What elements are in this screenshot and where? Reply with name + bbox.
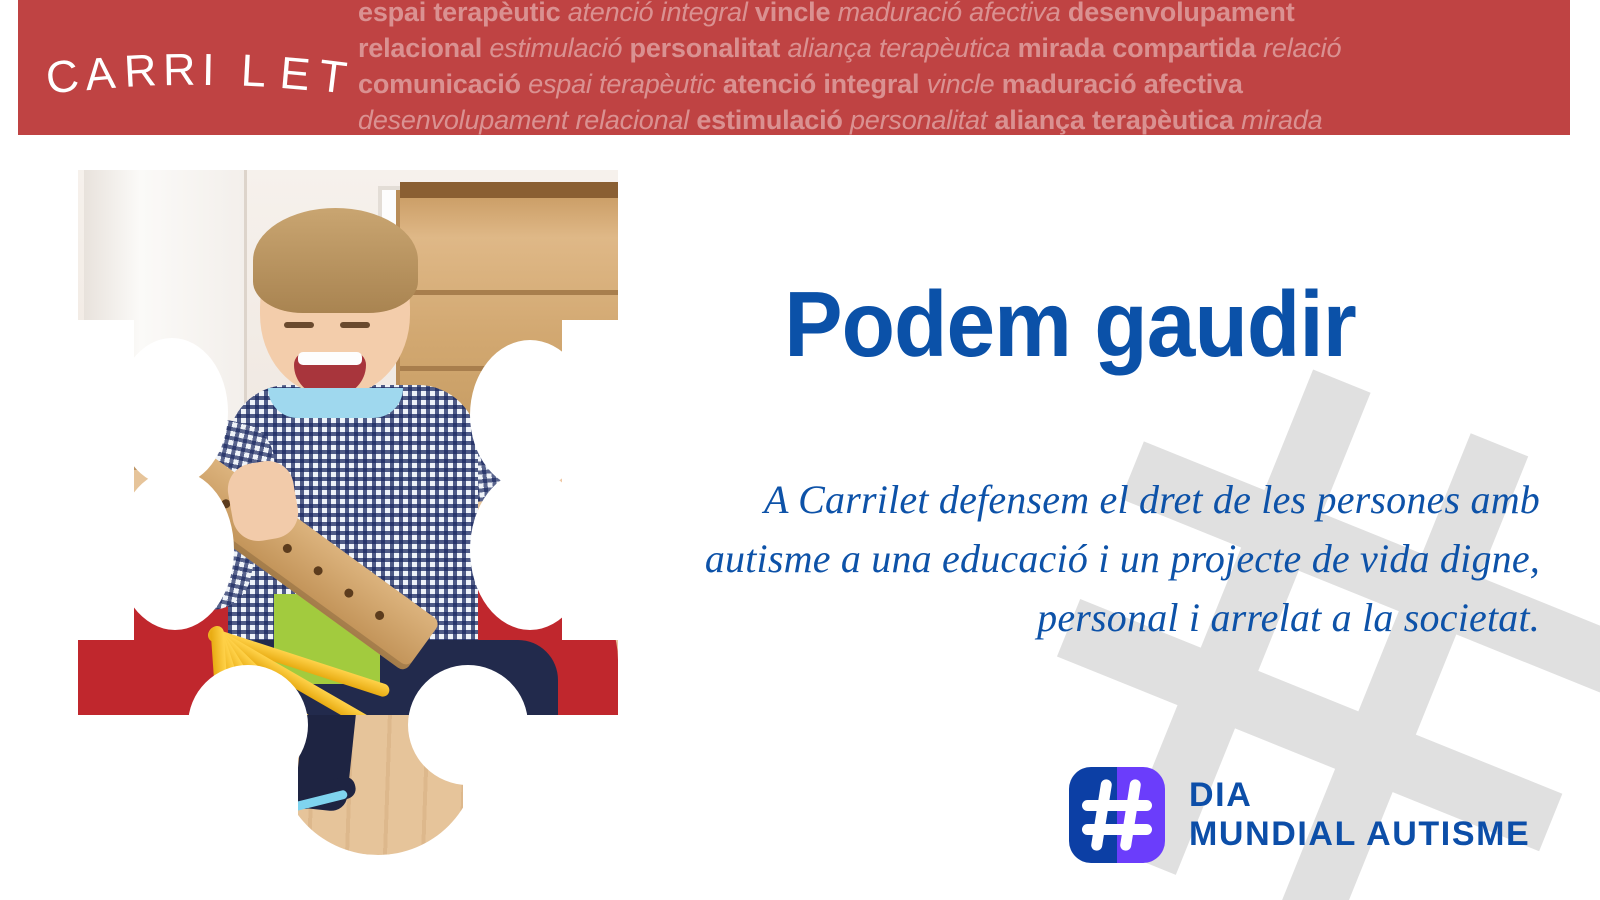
page-title: Podem gaudir: [685, 278, 1456, 371]
wordcloud-word: aliança: [987, 105, 1084, 135]
mission-statement-line: autisme a una educació i un projecte de …: [660, 529, 1540, 588]
hashtag-icon: [1069, 767, 1165, 863]
carrilet-logo-letter: T: [316, 52, 349, 100]
campaign-logo-text: DIA MUNDIAL AUTISME: [1189, 776, 1530, 854]
wordcloud-line: relacional estimulació personalitat alia…: [358, 30, 1570, 66]
wordcloud-word: terapèutica: [1085, 105, 1234, 135]
wordcloud-word: maduració: [994, 69, 1136, 99]
dia-mundial-autisme-logo: DIA MUNDIAL AUTISME: [1069, 763, 1589, 867]
wordcloud-word: comunicació: [358, 69, 521, 99]
carrilet-logo-letter: A: [83, 49, 117, 96]
wordcloud-word: terapèutica: [872, 33, 1011, 63]
wordcloud-word: personalitat: [622, 33, 780, 63]
wordcloud-word: terapèutic: [592, 69, 716, 99]
carrilet-logo-letter: R: [163, 47, 196, 93]
wordcloud-word: integral: [816, 69, 919, 99]
poster-canvas: espai terapèutic atenció integral vincle…: [0, 0, 1600, 900]
xylophone-peg: [312, 564, 325, 577]
xylophone-peg: [373, 609, 386, 622]
mission-statement-line: personal i arrelat a la societat.: [660, 588, 1540, 647]
header-banner: espai terapèutic atenció integral vincle…: [18, 0, 1570, 135]
carrilet-logo-letter: L: [240, 48, 267, 94]
puzzle-notch-right-bottom: [470, 470, 590, 630]
wordcloud-word: atenció: [716, 69, 816, 99]
wordcloud-word: personalitat: [843, 105, 988, 135]
wordcloud-word: integral: [653, 0, 747, 27]
carrilet-logo-letter: I: [202, 47, 215, 92]
wordcloud-word: mirada: [1234, 105, 1323, 135]
wordcloud-word: desenvolupament: [358, 105, 568, 135]
carrilet-logo: CARRILET: [40, 40, 360, 100]
wordcloud-word: relació: [1256, 33, 1341, 63]
wordcloud-word: atenció: [560, 0, 653, 27]
wordcloud-word: relacional: [358, 33, 482, 63]
wordcloud-word: terapèutic: [426, 0, 560, 27]
wordcloud-word: estimulació: [689, 105, 843, 135]
wordcloud-word: relacional: [568, 105, 689, 135]
xylophone-peg: [281, 542, 294, 555]
wordcloud-word: aliança: [780, 33, 871, 63]
wordcloud-word: espai: [358, 0, 426, 27]
photo-crate-line: [400, 290, 618, 295]
wordcloud-word: afectiva: [1136, 69, 1242, 99]
mission-statement: A Carrilet defensem el dret de les perso…: [660, 470, 1540, 648]
wordcloud-word: vincle: [748, 0, 831, 27]
campaign-logo-line1: DIA: [1189, 776, 1530, 815]
child-hair: [253, 208, 418, 313]
wordcloud-background: espai terapèutic atenció integral vincle…: [358, 0, 1570, 135]
wordcloud-word: mirada: [1010, 33, 1105, 63]
photo-crate-top: [400, 182, 618, 198]
wordcloud-line: comunicació espai terapèutic atenció int…: [358, 66, 1570, 102]
child-teeth: [298, 352, 362, 365]
child-collar: [268, 388, 403, 418]
puzzle-notch-bottom-left: [188, 665, 308, 785]
child-eye-left: [284, 322, 314, 328]
puzzle-notch-left-bottom: [116, 470, 234, 630]
wordcloud-word: afectiva: [962, 0, 1061, 27]
mission-statement-line: A Carrilet defensem el dret de les perso…: [660, 470, 1540, 529]
child-eye-right: [340, 322, 370, 328]
xylophone-peg: [343, 587, 356, 600]
puzzle-notch-left-top: [116, 338, 228, 486]
puzzle-piece-photo: [78, 170, 618, 860]
hashtag-bar: [1082, 800, 1152, 811]
carrilet-logo-letter: R: [123, 47, 158, 94]
campaign-logo-line2: MUNDIAL AUTISME: [1189, 815, 1530, 854]
wordcloud-line: espai terapèutic atenció integral vincle…: [358, 0, 1570, 30]
wordcloud-word: vincle: [919, 69, 994, 99]
wordcloud-word: espai: [521, 69, 592, 99]
wordcloud-line: desenvolupament relacional estimulació p…: [358, 102, 1570, 135]
wordcloud-word: desenvolupament: [1061, 0, 1295, 27]
wordcloud-word: compartida: [1105, 33, 1256, 63]
wordcloud-word: maduració: [830, 0, 962, 27]
puzzle-notch-right-top: [470, 340, 590, 490]
carrilet-logo-letter: C: [43, 52, 81, 101]
carrilet-logo-letter: E: [278, 49, 312, 96]
puzzle-notch-bottom-right: [408, 665, 528, 785]
wordcloud-word: estimulació: [482, 33, 622, 63]
